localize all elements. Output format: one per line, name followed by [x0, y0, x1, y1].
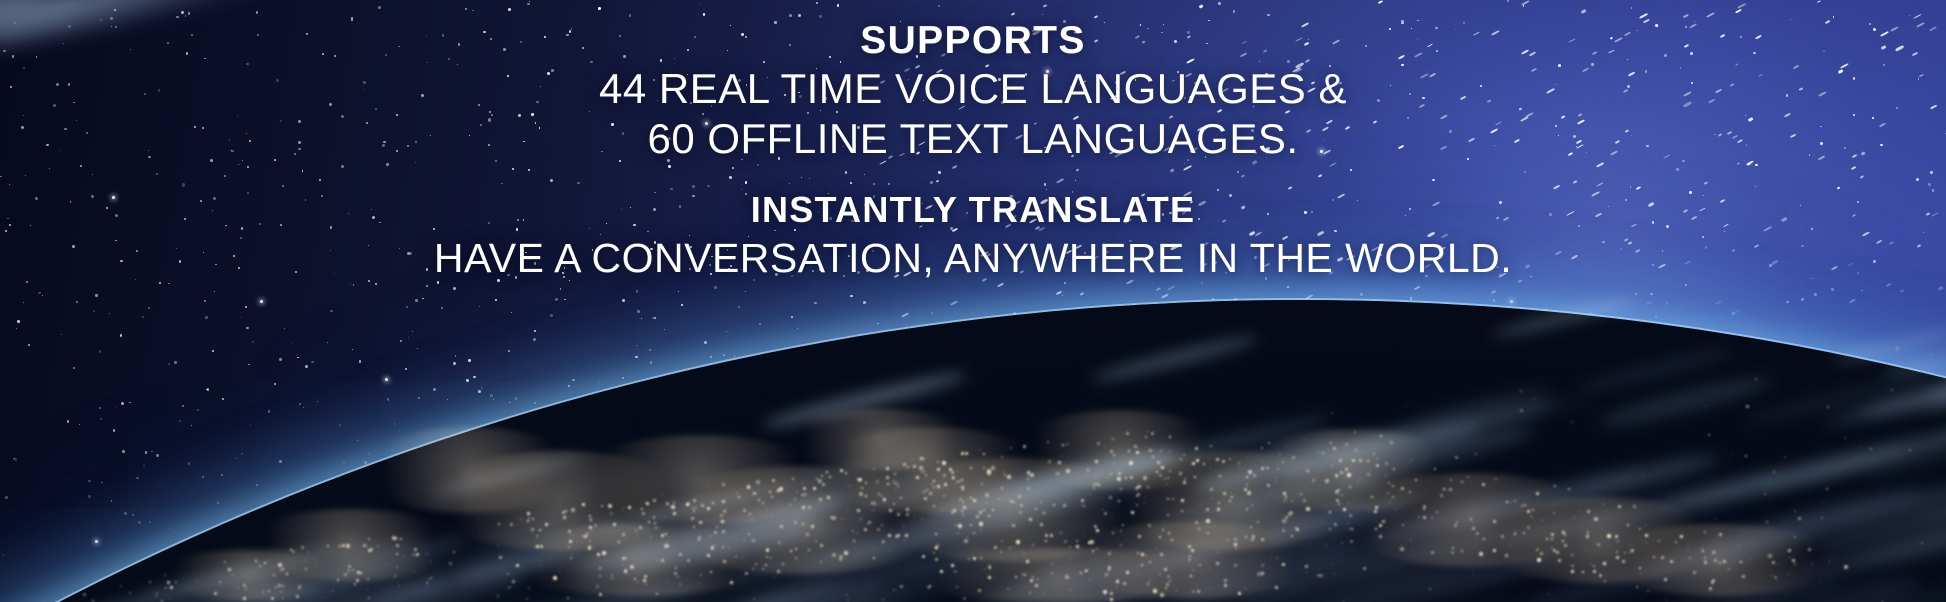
conversation-anywhere-line: HAVE A CONVERSATION, ANYWHERE IN THE WOR… — [0, 232, 1946, 284]
instantly-translate-heading: INSTANTLY TRANSLATE — [0, 188, 1946, 232]
voice-languages-line: 44 REAL TIME VOICE LANGUAGES & — [0, 64, 1946, 114]
supports-heading: SUPPORTS — [0, 18, 1946, 64]
promo-copy: SUPPORTS 44 REAL TIME VOICE LANGUAGES & … — [0, 18, 1946, 284]
promo-banner: SUPPORTS 44 REAL TIME VOICE LANGUAGES & … — [0, 0, 1946, 602]
instantly-translate-block: INSTANTLY TRANSLATE HAVE A CONVERSATION,… — [0, 188, 1946, 284]
text-languages-line: 60 OFFLINE TEXT LANGUAGES. — [0, 114, 1946, 164]
